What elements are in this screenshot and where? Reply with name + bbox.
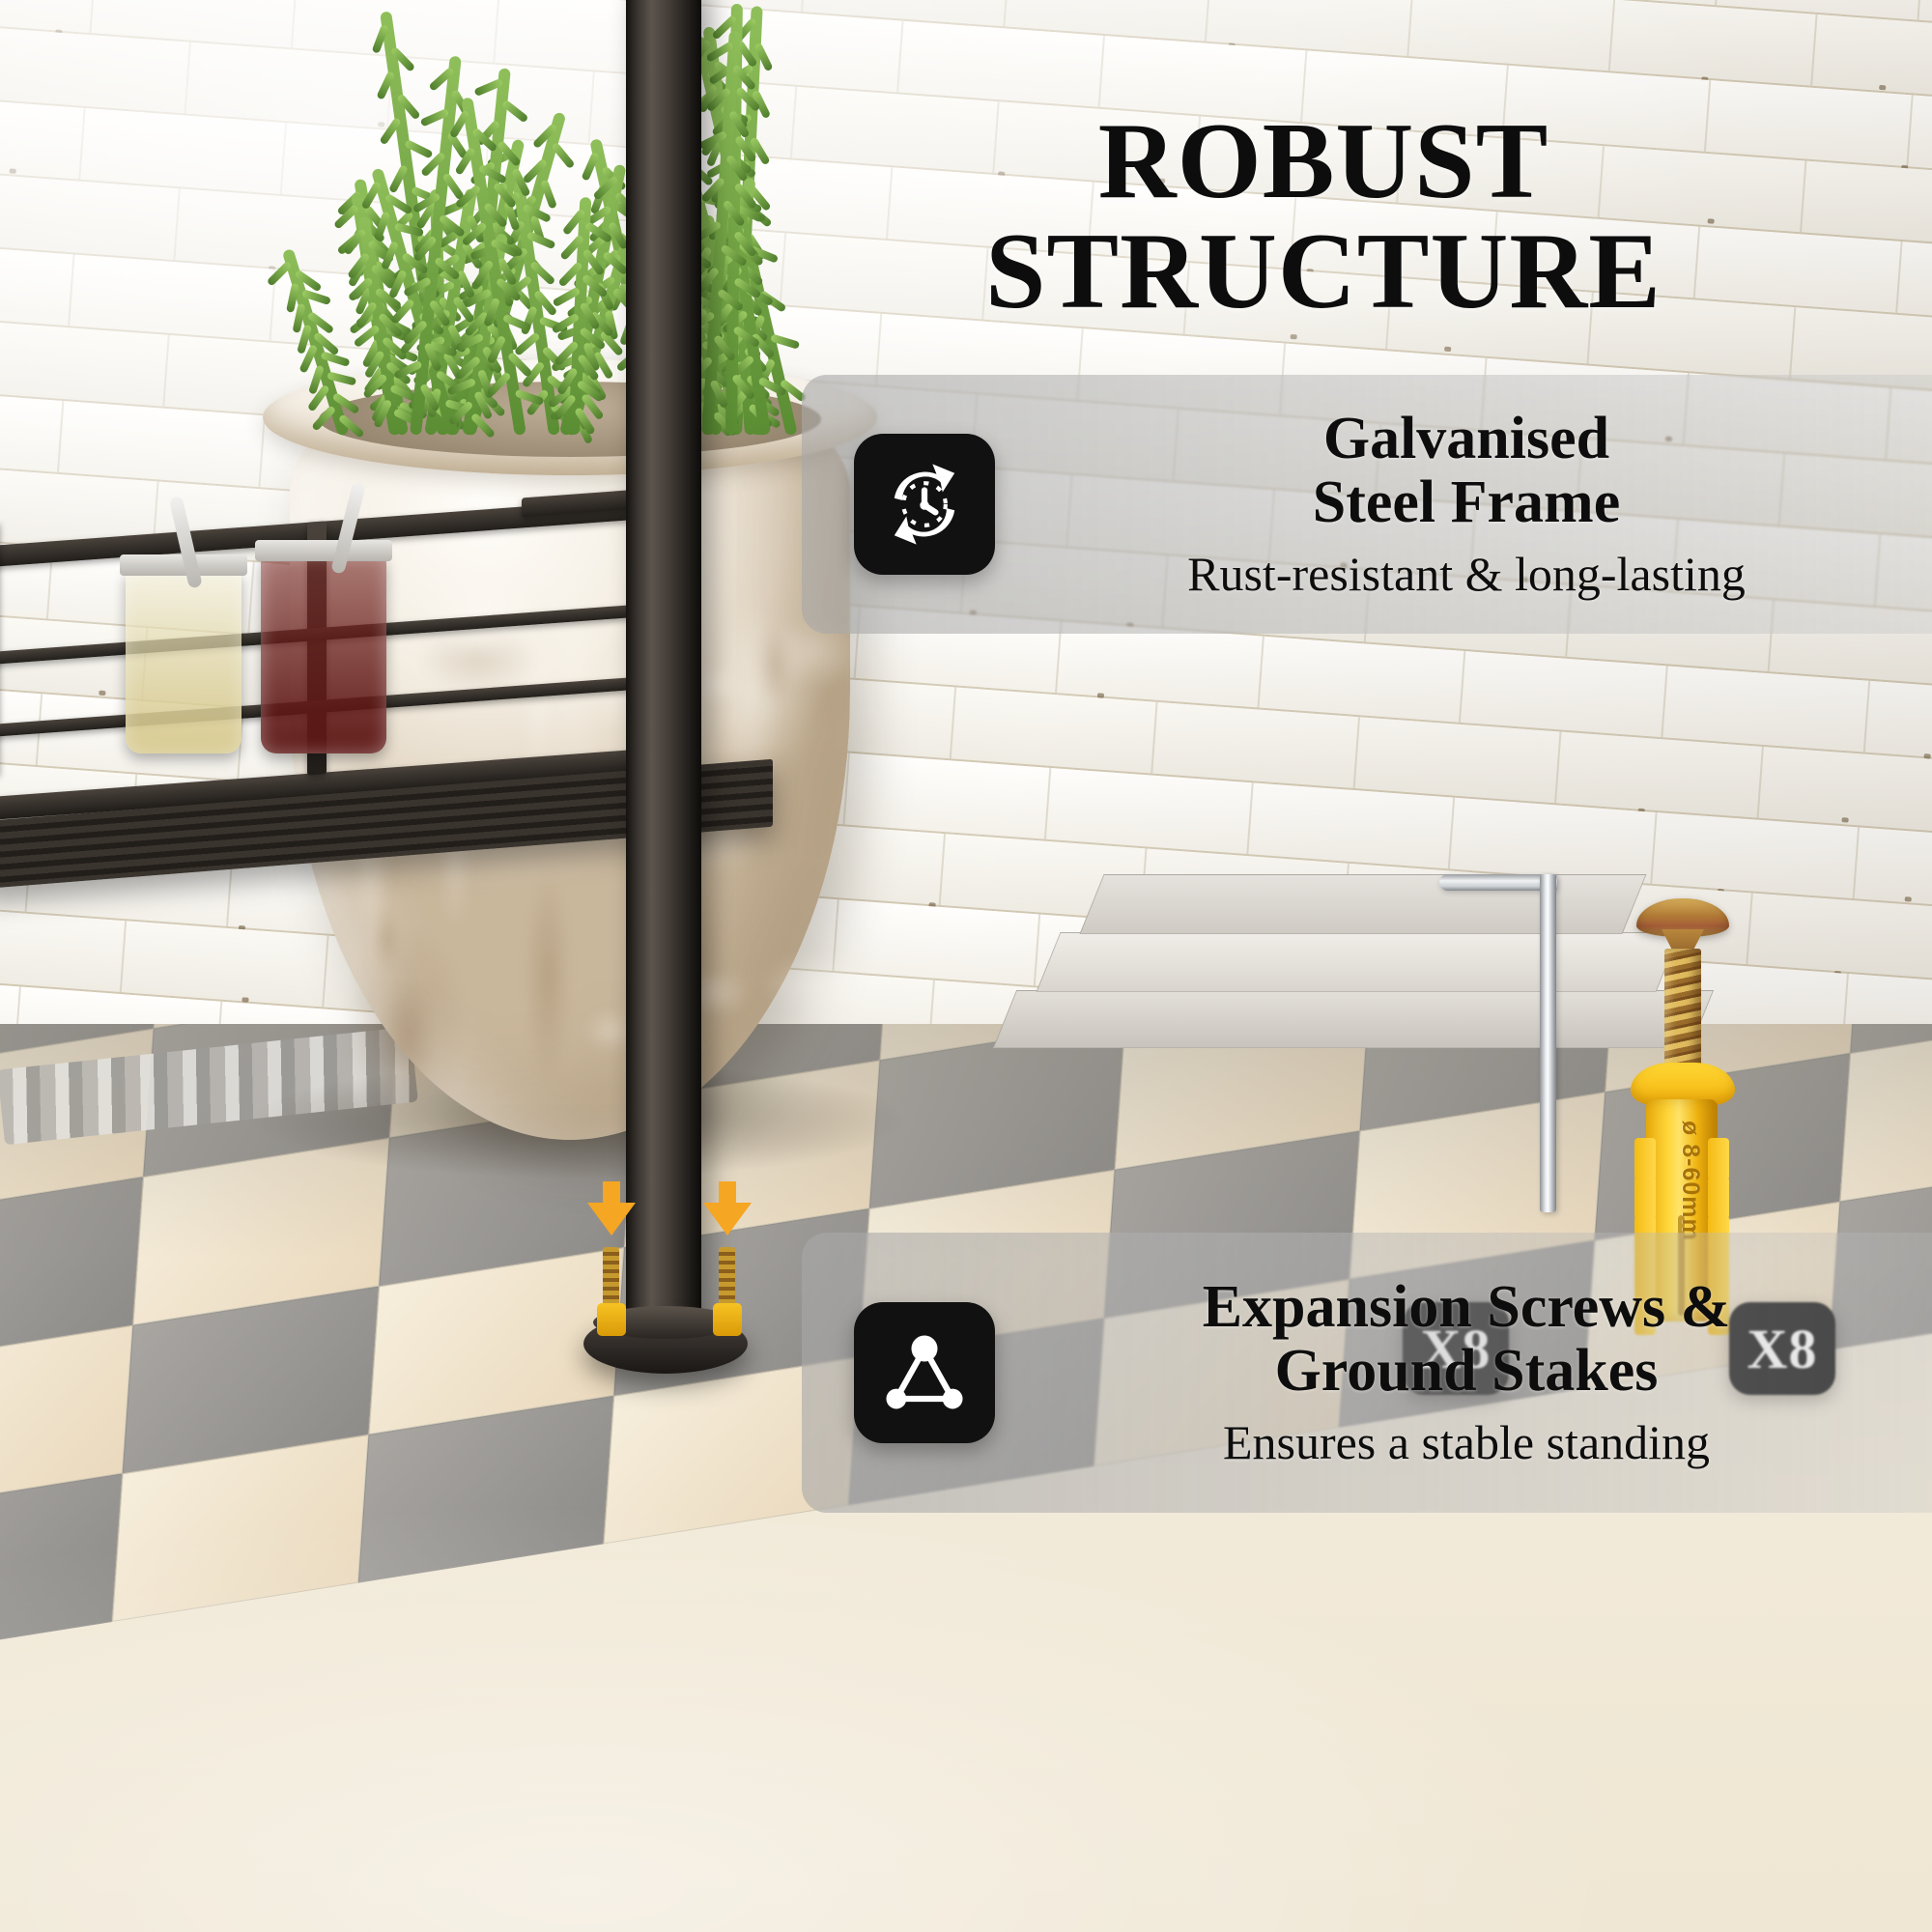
clock-refresh-icon — [854, 434, 995, 575]
concrete-step-middle — [1036, 932, 1680, 992]
rosemary-needle — [388, 165, 409, 194]
callout-expansion-screws-ground-stakes: Expansion Screws & Ground Stakes Ensures… — [802, 1233, 1932, 1513]
callout-heading-line-1: Expansion Screws & — [1203, 1274, 1731, 1340]
stability-triangle-icon — [854, 1302, 995, 1443]
callout-heading: Galvanised Steel Frame — [1039, 408, 1893, 534]
rosemary-needle — [553, 286, 582, 307]
rosemary-needle — [562, 208, 586, 235]
install-direction-arrow — [587, 1203, 636, 1236]
wall-plug-fin — [1708, 1138, 1729, 1180]
rosemary-needle — [559, 235, 584, 262]
rosemary-needle — [379, 118, 402, 146]
anchor-screw — [603, 1247, 619, 1307]
rosemary-needle — [404, 139, 433, 158]
condiment-jar — [261, 555, 386, 753]
pot-weather-streak — [379, 979, 436, 1104]
callout-subtext: Ensures a stable standing — [1039, 1415, 1893, 1469]
anchor-wall-plug — [713, 1303, 742, 1336]
rosemary-needle — [327, 372, 356, 386]
rosemary-needle — [501, 99, 529, 124]
rosemary-needle — [551, 143, 575, 170]
rosemary-needle — [376, 71, 395, 101]
install-direction-arrow-stem — [719, 1181, 736, 1207]
callout-heading-line-2: Steel Frame — [1313, 469, 1620, 535]
rosemary-needle — [582, 152, 600, 182]
allen-key-long-shaft — [1540, 874, 1556, 1212]
rosemary-needle — [770, 333, 800, 349]
page-title: ROBUST STRUCTURE — [753, 106, 1893, 327]
condiment-jar — [126, 570, 241, 753]
wall-plug-fin — [1708, 1177, 1729, 1219]
rosemary-needle — [540, 180, 557, 210]
anchor-screw — [719, 1247, 735, 1307]
install-direction-arrow-stem — [603, 1181, 620, 1207]
rosemary-needle — [473, 78, 503, 97]
rosemary-needle — [419, 108, 449, 127]
jar-lid — [255, 540, 392, 561]
rosemary-needle — [332, 392, 360, 414]
concrete-step-upper — [1079, 874, 1646, 934]
wall-plug-fin — [1634, 1138, 1656, 1180]
rosemary-needle — [396, 93, 421, 120]
callout-text-block: Expansion Screws & Ground Stakes Ensures… — [1039, 1276, 1893, 1468]
rosemary-needle — [513, 332, 540, 357]
callout-heading: Expansion Screws & Ground Stakes — [1039, 1276, 1893, 1403]
wall-plug-size-label: ø 8-60mm — [1660, 1121, 1704, 1241]
concrete-step-lower — [993, 990, 1714, 1048]
pot-weather-streak — [525, 868, 571, 1085]
pergola-post — [626, 0, 701, 1338]
callout-heading-line-2: Ground Stakes — [1275, 1338, 1659, 1404]
rosemary-needle — [506, 352, 532, 378]
product-feature-graphic: ROBUST STRUCTURE Galvanised Steel Frame … — [0, 0, 1932, 1932]
title-line-2: STRUCTURE — [753, 216, 1893, 327]
callout-subtext: Rust-resistant & long-lasting — [1039, 547, 1893, 601]
rosemary-needle — [389, 46, 415, 72]
anchor-wall-plug — [597, 1303, 626, 1336]
rosemary-needle — [338, 413, 365, 439]
rosemary-needle — [470, 412, 496, 439]
rosemary-needle — [428, 67, 455, 92]
rosemary-needle — [529, 261, 555, 286]
callout-text-block: Galvanised Steel Frame Rust-resistant & … — [1039, 408, 1893, 600]
title-line-1: ROBUST — [1098, 101, 1549, 221]
screw-threaded-shaft — [1664, 949, 1701, 1074]
callout-heading-line-1: Galvanised — [1323, 406, 1609, 471]
rosemary-needle — [371, 24, 388, 54]
callout-galvanised-steel-frame: Galvanised Steel Frame Rust-resistant & … — [802, 375, 1932, 634]
rosemary-needle — [753, 43, 773, 71]
install-direction-arrow — [703, 1203, 752, 1236]
wall-plug-fin — [1634, 1177, 1656, 1219]
rosemary-needle — [514, 388, 544, 406]
pot-weather-streak — [761, 952, 870, 1014]
rosemary-needle — [558, 261, 584, 287]
